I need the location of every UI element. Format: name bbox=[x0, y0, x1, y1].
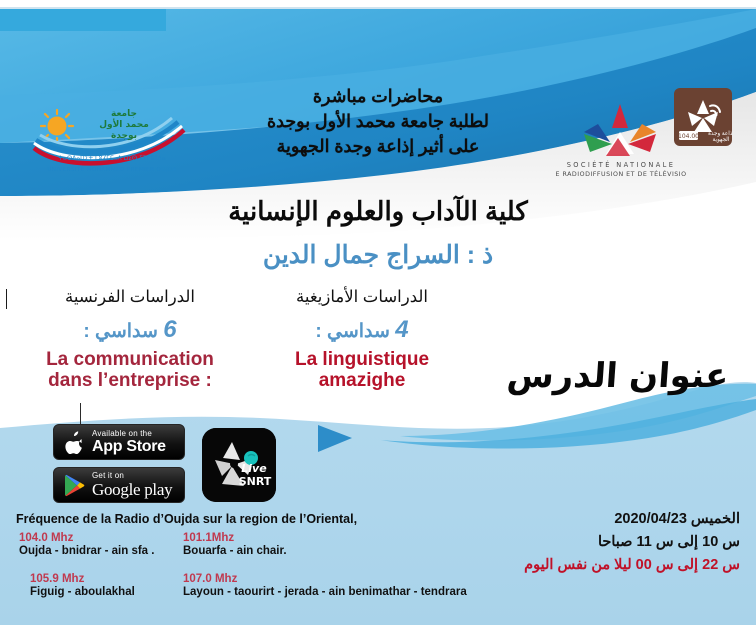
logo-arabic-line3: بوجدة bbox=[111, 131, 137, 141]
radio-oujda-regional-logo: 104.00 إذاعة وجدة الجهوية bbox=[674, 88, 732, 146]
apple-icon bbox=[61, 431, 87, 454]
frequency-cities: Oujda - bnidrar - ain sfa . bbox=[19, 545, 154, 557]
text-caret bbox=[6, 289, 7, 309]
frequency-value: 101.1Mhz bbox=[183, 532, 287, 544]
course-column-french-studies: الدراسات الفرنسية 6 سداسي : La communica… bbox=[14, 288, 246, 392]
course-title-line: La communication bbox=[14, 349, 246, 371]
semester-number: 6 bbox=[163, 316, 176, 343]
logo-arabic-line2: محمد الأول bbox=[99, 118, 149, 130]
frequency-item: 101.1Mhz Bouarfa - ain chair. bbox=[183, 532, 287, 557]
frequency-info: Fréquence de la Radio d’Oujda sur la reg… bbox=[16, 512, 536, 532]
broadcast-schedule: الخميس 2020/04/23 س 10 إلى س 11 صباحا س … bbox=[524, 508, 740, 578]
headline-line-3: على أثير إذاعة وجدة الجهوية bbox=[228, 134, 528, 159]
course-title: La communication dans l’entreprise : bbox=[14, 349, 246, 392]
snrt-label: SNRT bbox=[239, 475, 272, 488]
department-label: الدراسات الفرنسية bbox=[14, 288, 246, 308]
google-play-badge[interactable]: Get it on Google play bbox=[53, 467, 185, 503]
top-accent-tab bbox=[0, 9, 166, 31]
frequency-cities: Bouarfa - ain chair. bbox=[183, 545, 287, 557]
professor-name: ذ : السراج جمال الدين bbox=[0, 240, 756, 270]
logo-latin-name: UNIVERSITE MOHAMMED PREMIER OUJDA bbox=[47, 167, 177, 173]
frequency-item: 104.0 Mhz Oujda - bnidrar - ain sfa . bbox=[19, 532, 154, 557]
live-snrt-app-icon[interactable]: Live SNRT bbox=[202, 428, 276, 502]
store-badges: Available on the App Store Get it on Goo… bbox=[53, 424, 185, 510]
course-column-amazigh-studies: الدراسات الأمازيغية 4 سداسي : La linguis… bbox=[246, 288, 478, 392]
frequency-value: 105.9 Mhz bbox=[30, 573, 135, 585]
radio-frequency-label: 104.00 bbox=[678, 133, 699, 140]
google-play-badge-title: Google play bbox=[92, 481, 172, 498]
snrt-logo: SOCIÉTÉ NATIONALE DE RADIODIFFUSION ET D… bbox=[556, 98, 686, 178]
frequency-cities: Layoun - taourirt - jerada - ain benimat… bbox=[183, 586, 467, 598]
snrt-line-2: DE RADIODIFFUSION ET DE TÉLÉVISION bbox=[556, 169, 686, 178]
broadcast-time-night: س 22 إلى س 00 ليلا من نفس اليوم bbox=[524, 554, 740, 577]
poster-canvas: جامعة محمد الأول بوجدة ⵜⴰⵙⴷⴰⵡⵉⵜ ⵎⵓⵃⵎⵎⴰⴷ … bbox=[0, 0, 756, 625]
universite-mohammed-premier-oujda-logo: جامعة محمد الأول بوجدة ⵜⴰⵙⴷⴰⵡⵉⵜ ⵎⵓⵃⵎⵎⴰⴷ … bbox=[26, 100, 194, 178]
lesson-title-placeholder: عنوان الدرس bbox=[505, 356, 729, 396]
faculty-name: كلية الآداب والعلوم الإنسانية bbox=[0, 196, 756, 227]
frequency-item: 107.0 Mhz Layoun - taourirt - jerada - a… bbox=[183, 573, 467, 598]
google-play-badge-subtitle: Get it on bbox=[92, 472, 172, 480]
radio-arabic-line2: الجهوية bbox=[713, 137, 730, 143]
logo-arabic-line1: جامعة bbox=[111, 109, 137, 119]
frequency-cities: Figuig - aboulakhal bbox=[30, 586, 135, 598]
course-title-line: La linguistique bbox=[246, 349, 478, 371]
snrt-star-icon bbox=[584, 104, 656, 156]
semester-line: 4 سداسي : bbox=[246, 316, 478, 344]
course-title-line: dans l’entreprise : bbox=[14, 370, 246, 392]
snrt-line-1: SOCIÉTÉ NATIONALE bbox=[567, 160, 676, 169]
headline-line-2: لطلبة جامعة محمد الأول بوجدة bbox=[228, 109, 528, 134]
broadcast-time-morning: س 10 إلى س 11 صباحا bbox=[524, 531, 740, 554]
live-label: Live bbox=[241, 462, 267, 475]
frequency-item: 105.9 Mhz Figuig - aboulakhal bbox=[30, 573, 135, 598]
frequency-value: 104.0 Mhz bbox=[19, 532, 154, 544]
course-title-line: amazighe bbox=[246, 370, 478, 392]
broadcast-date: الخميس 2020/04/23 bbox=[524, 508, 740, 531]
poster-header: جامعة محمد الأول بوجدة ⵜⴰⵙⴷⴰⵡⵉⵜ ⵎⵓⵃⵎⵎⴰⴷ … bbox=[0, 78, 756, 188]
semester-label: سداسي : bbox=[315, 321, 390, 342]
google-play-icon bbox=[61, 474, 87, 497]
app-store-badge[interactable]: Available on the App Store bbox=[53, 424, 185, 460]
app-store-badge-title: App Store bbox=[92, 439, 166, 455]
semester-label: سداسي : bbox=[83, 321, 158, 342]
semester-number: 4 bbox=[395, 316, 408, 343]
frequency-heading: Fréquence de la Radio d’Oujda sur la reg… bbox=[16, 512, 536, 526]
logo-tifinagh: ⵜⴰⵙⴷⴰⵡⵉⵜ ⵎⵓⵃⵎⵎⴰⴷ ⵡⵉⵙ ⵉⵊⵊ ⵓⵊⴷⴰ bbox=[58, 155, 165, 162]
page-title: محاضرات مباشرة لطلبة جامعة محمد الأول بو… bbox=[228, 84, 528, 159]
semester-line: 6 سداسي : bbox=[14, 316, 246, 344]
headline-line-1: محاضرات مباشرة bbox=[228, 84, 528, 109]
app-store-badge-subtitle: Available on the bbox=[92, 430, 166, 438]
department-label: الدراسات الأمازيغية bbox=[246, 288, 478, 308]
course-title: La linguistique amazighe bbox=[246, 349, 478, 392]
frequency-value: 107.0 Mhz bbox=[183, 573, 467, 585]
